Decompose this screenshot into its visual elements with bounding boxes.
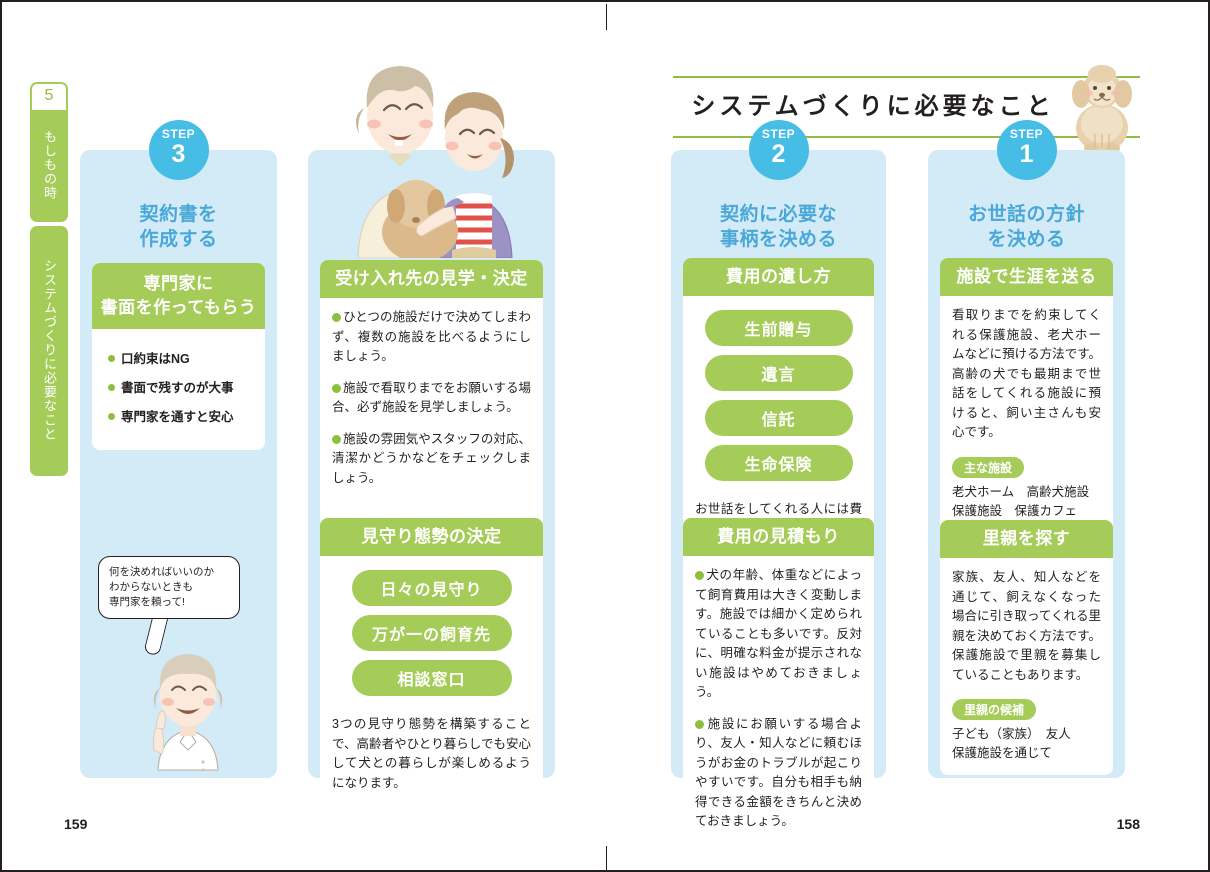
tag-list: 子ども（家族） 友人 保護施設を通じて <box>952 725 1101 763</box>
list-item-label: 専門家を通すと安心 <box>121 410 234 424</box>
page-number-right: 158 <box>1117 816 1140 832</box>
card-heading: 施設で生涯を送る <box>940 258 1113 296</box>
gutter-mark-bottom <box>606 846 607 872</box>
paragraph-text: 施設にお願いする場合より、友人・知人などに頼むほうがお金のトラブルが起こりやすい… <box>695 717 862 829</box>
card-heading: 専門家に 書面を作ってもらう <box>92 263 265 329</box>
paragraph: 看取りまでを約束してくれる保護施設、老犬ホームなどに預ける方法です。高齢の犬でも… <box>952 306 1101 443</box>
card-heading: 里親を探す <box>940 520 1113 558</box>
step-badge-2: STEP 2 <box>749 120 809 180</box>
list-item-label: 書面で残すのが大事 <box>121 381 234 395</box>
paragraph: 犬の年齢、体重などによって飼育費用は大きく変動します。施設では細かく定められてい… <box>695 566 862 703</box>
bullet-dot-icon <box>332 313 341 322</box>
paragraph-text: ひとつの施設だけで決めてしまわず、複数の施設を比べるようにしましょう。 <box>332 310 531 363</box>
pill-option[interactable]: 遺言 <box>705 355 853 391</box>
card-find-foster: 里親を探す 家族、友人、知人などを通じて、飼えなくなった場合に引き取ってくれる里… <box>940 520 1113 775</box>
card-facility-visit: 受け入れ先の見学・決定 ひとつの施設だけで決めてしまわず、複数の施設を比べるよう… <box>320 260 543 528</box>
paragraph: 施設で看取りまでをお願いする場合、必ず施設を見学しましょう。 <box>332 379 531 418</box>
card-cost-estimate: 費用の見積もり 犬の年齢、体重などによって飼育費用は大きく変動します。施設では細… <box>683 518 874 844</box>
step-badge-3: STEP 3 <box>149 120 209 180</box>
step-number: 2 <box>749 141 809 168</box>
page-number-left: 159 <box>64 816 87 832</box>
tag-badge: 主な施設 <box>952 457 1024 478</box>
list-item: 口約束はNG <box>108 345 253 374</box>
step-badge-1: STEP 1 <box>997 120 1057 180</box>
pill-group: 生前贈与 遺言 信託 生命保険 <box>695 306 862 500</box>
index-tabs: 5 もしもの時 システムづくりに必要なこと <box>30 82 68 476</box>
card-heading: 受け入れ先の見学・決定 <box>320 260 543 298</box>
card-watch-system: 見守り態勢の決定 日々の見守り 万が一の飼育先 相談窓口 3つの見守り態勢を構築… <box>320 518 543 805</box>
column-step2: STEP 2 契約に必要な 事柄を決める 費用の遺し方 生前贈与 遺言 信託 生… <box>671 150 886 778</box>
paragraph: 施設にお願いする場合より、友人・知人などに頼むほうがお金のトラブルが起こりやすい… <box>695 715 862 832</box>
pill-option[interactable]: 生命保険 <box>705 445 853 481</box>
paragraph: 施設の雰囲気やスタッフの対応、清潔かどうかなどをチェックしましょう。 <box>332 430 531 489</box>
column-title-step3: 契約書を 作成する <box>80 202 277 252</box>
page-header: システムづくりに必要なこと <box>673 76 1140 138</box>
pill-group: 日々の見守り 万が一の飼育先 相談窓口 <box>332 566 531 715</box>
gutter-mark-top <box>606 4 607 30</box>
paragraph-text: 施設で看取りまでをお願いする場合、必ず施設を見学しましょう。 <box>332 381 531 415</box>
pill-option[interactable]: 相談窓口 <box>352 660 512 696</box>
card-heading: 費用の遺し方 <box>683 258 874 296</box>
bullet-dot-icon <box>108 355 115 362</box>
bullet-dot-icon <box>332 384 341 393</box>
step-number: 1 <box>997 141 1057 168</box>
pill-option[interactable]: 信託 <box>705 400 853 436</box>
card-document-prep: 専門家に 書面を作ってもらう 口約束はNG 書面で残すのが大事 専門家を通すと安… <box>92 263 265 450</box>
card-body: 看取りまでを約束してくれる保護施設、老犬ホームなどに預ける方法です。高齢の犬でも… <box>940 296 1113 552</box>
index-tab-section[interactable]: システムづくりに必要なこと <box>30 226 68 476</box>
book-spread-page: 5 もしもの時 システムづくりに必要なこと システムづくりに必要なこと <box>0 0 1210 872</box>
card-heading: 費用の見積もり <box>683 518 874 556</box>
card-body: ひとつの施設だけで決めてしまわず、複数の施設を比べるようにしましょう。 施設で看… <box>320 298 543 528</box>
card-body: 犬の年齢、体重などによって飼育費用は大きく変動します。施設では細かく定められてい… <box>683 556 874 844</box>
paragraph: 3つの見守り態勢を構築することで、高齢者やひとり暮らしでも安心して犬との暮らしが… <box>332 715 531 793</box>
column-middle: 受け入れ先の見学・決定 ひとつの施設だけで決めてしまわず、複数の施設を比べるよう… <box>308 150 555 778</box>
speech-bubble: 何を決めればいいのか わからないときも 専門家を頼って! <box>98 556 240 619</box>
pill-option[interactable]: 日々の見守り <box>352 570 512 606</box>
index-tab-chapter[interactable]: もしもの時 <box>30 110 68 222</box>
column-step3: STEP 3 契約書を 作成する 専門家に 書面を作ってもらう 口約束はNG 書… <box>80 150 277 778</box>
card-facility-life: 施設で生涯を送る 看取りまでを約束してくれる保護施設、老犬ホームなどに預ける方法… <box>940 258 1113 552</box>
tag-badge: 里親の候補 <box>952 699 1036 720</box>
bullet-dot-icon <box>332 435 341 444</box>
step-number: 3 <box>149 141 209 168</box>
bullet-dot-icon <box>108 413 115 420</box>
pill-option[interactable]: 万が一の飼育先 <box>352 615 512 651</box>
paragraph: ひとつの施設だけで決めてしまわず、複数の施設を比べるようにしましょう。 <box>332 308 531 367</box>
column-step1: STEP 1 お世話の方針 を決める 施設で生涯を送る 看取りまでを約束してくれ… <box>928 150 1125 778</box>
list-item: 専門家を通すと安心 <box>108 403 253 432</box>
bullet-dot-icon <box>108 384 115 391</box>
card-body: 口約束はNG 書面で残すのが大事 専門家を通すと安心 <box>92 329 265 450</box>
checklist: 口約束はNG 書面で残すのが大事 専門家を通すと安心 <box>104 339 253 438</box>
chapter-number: 5 <box>30 82 68 110</box>
card-heading: 見守り態勢の決定 <box>320 518 543 556</box>
paragraph-text: 施設の雰囲気やスタッフの対応、清潔かどうかなどをチェックしましょう。 <box>332 432 531 485</box>
paragraph-text: 犬の年齢、体重などによって飼育費用は大きく変動します。施設では細かく定められてい… <box>695 568 862 699</box>
bullet-dot-icon <box>695 720 704 729</box>
pill-option[interactable]: 生前贈与 <box>705 310 853 346</box>
column-title-step2: 契約に必要な 事柄を決める <box>671 202 886 252</box>
speech-bubble-text: 何を決めればいいのか わからないときも 専門家を頼って! <box>109 566 214 608</box>
column-title-step1: お世話の方針 を決める <box>928 202 1125 252</box>
paragraph: 家族、友人、知人などを通じて、飼えなくなった場合に引き取ってくれる里親を決めてお… <box>952 568 1101 685</box>
card-body: 日々の見守り 万が一の飼育先 相談窓口 3つの見守り態勢を構築することで、高齢者… <box>320 556 543 805</box>
list-item-label: 口約束はNG <box>121 352 190 366</box>
card-body: 家族、友人、知人などを通じて、飼えなくなった場合に引き取ってくれる里親を決めてお… <box>940 558 1113 775</box>
bullet-dot-icon <box>695 571 704 580</box>
list-item: 書面で残すのが大事 <box>108 374 253 403</box>
